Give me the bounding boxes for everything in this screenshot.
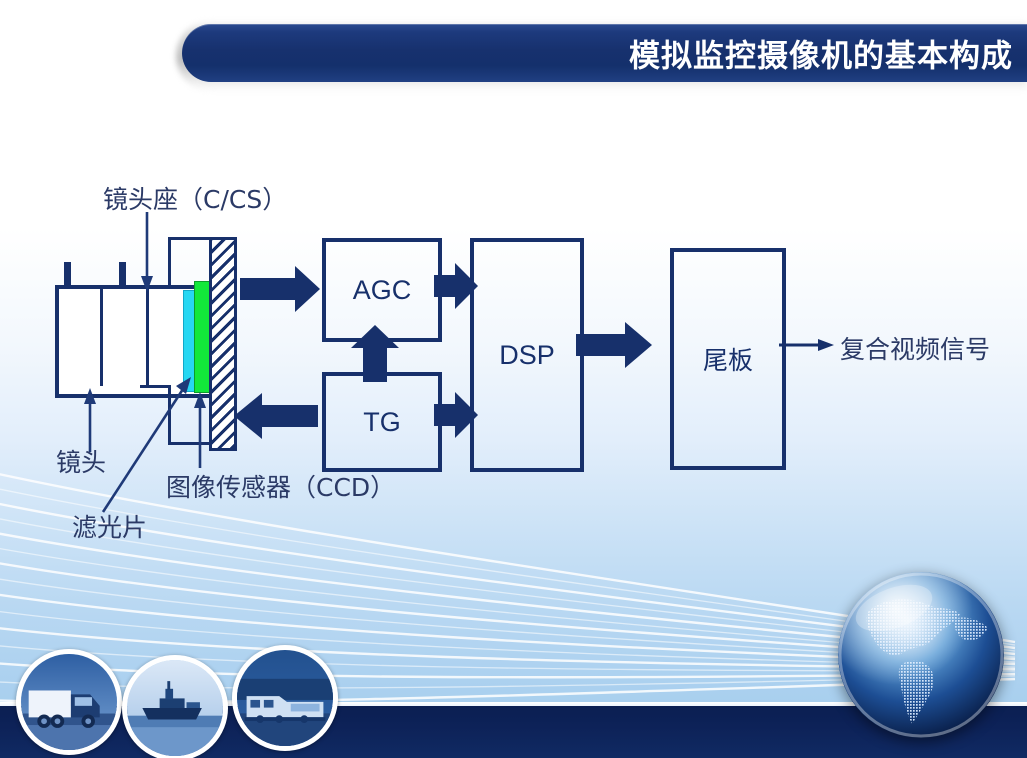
output-signal-label: 复合视频信号 [840, 330, 990, 366]
block-agc-label: AGC [353, 275, 412, 306]
callout-lens-mount: 镜头座（C/CS） [103, 180, 287, 216]
photo-badge-truck [16, 649, 122, 755]
camera-block-diagram: AGC TG DSP 尾板 镜头座（C/CS） 镜头 滤光片 图像传感器（CCD… [0, 0, 1027, 560]
block-agc[interactable]: AGC [322, 238, 442, 342]
globe-svg [838, 572, 1004, 738]
block-tg[interactable]: TG [322, 372, 442, 472]
callout-arrow-lens [84, 388, 96, 404]
block-dsp[interactable]: DSP [470, 238, 584, 472]
globe-graphic [838, 572, 1004, 738]
block-dsp-label: DSP [499, 340, 555, 371]
slide: 模拟监控摄像机的基本构成 [0, 0, 1027, 758]
block-tg-label: TG [363, 407, 401, 438]
block-tailboard[interactable]: 尾板 [670, 248, 786, 470]
truck-photo [21, 654, 117, 750]
photo-badge-train [232, 645, 338, 751]
callout-arrow-optical-filter [176, 377, 191, 394]
callout-arrow-lens-mount [141, 276, 153, 292]
arrow-dsp-to-tailboard [576, 322, 652, 368]
train-photo [237, 650, 333, 746]
ship-photo [127, 660, 223, 756]
callout-arrow-image-sensor [194, 392, 206, 408]
arrow-tg-to-sensor [234, 393, 318, 439]
photo-badge-ship [122, 655, 228, 758]
block-tailboard-label: 尾板 [703, 341, 753, 377]
arrow-tailboard-to-output [818, 339, 834, 351]
callout-lens: 镜头 [56, 443, 106, 479]
callout-optical-filter: 滤光片 [72, 508, 147, 544]
arrow-sensor-to-agc [240, 266, 320, 312]
callout-image-sensor: 图像传感器（CCD） [166, 468, 395, 504]
